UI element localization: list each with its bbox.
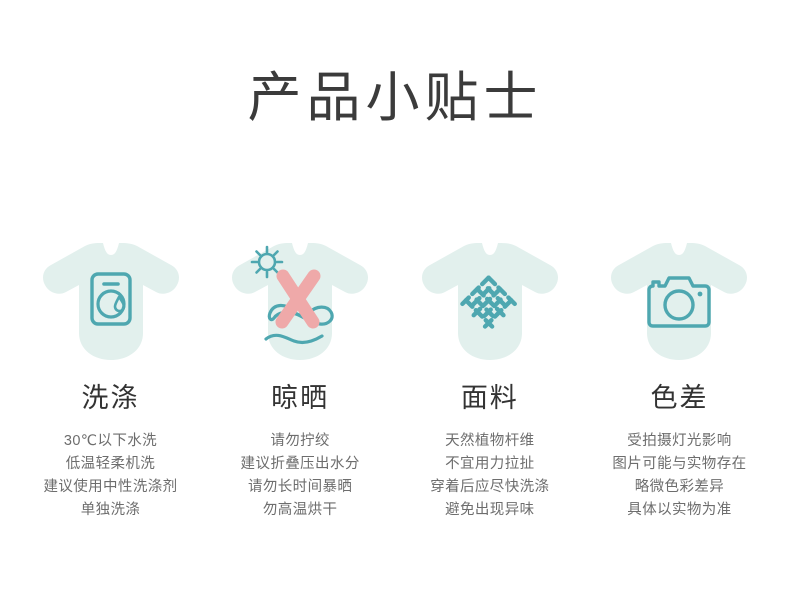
tip-line: 请勿拧绞 bbox=[270, 430, 330, 453]
tip-line: 30℃以下水洗 bbox=[64, 430, 157, 453]
tip-lines: 受拍摄灯光影响 图片可能与实物存在 略微色彩差异 具体以实物为准 bbox=[612, 430, 746, 522]
tip-card-color-difference: 色差 受拍摄灯光影响 图片可能与实物存在 略微色彩差异 具体以实物为准 bbox=[585, 238, 774, 522]
tip-line: 天然植物杆维 bbox=[445, 430, 534, 453]
tip-heading: 洗涤 bbox=[82, 382, 140, 414]
page-title: 产品小贴士 bbox=[0, 66, 790, 130]
tip-line: 请勿长时间暴晒 bbox=[248, 476, 352, 499]
tip-line: 避免出现异味 bbox=[445, 499, 534, 522]
tip-line: 图片可能与实物存在 bbox=[612, 453, 746, 476]
tip-line: 不宜用力拉扯 bbox=[445, 453, 534, 476]
no-sun-dry-wring-icon bbox=[230, 238, 370, 364]
tip-line: 建议使用中性洗涤剂 bbox=[43, 476, 177, 499]
tip-line: 低温轻柔机洗 bbox=[66, 453, 155, 476]
tip-heading: 面料 bbox=[461, 382, 519, 414]
tips-row: 洗涤 30℃以下水洗 低温轻柔机洗 建议使用中性洗涤剂 单独洗涤 bbox=[0, 238, 790, 522]
tip-lines: 天然植物杆维 不宜用力拉扯 穿着后应尽快洗涤 避免出现异味 bbox=[430, 430, 549, 522]
tip-line: 穿着后应尽快洗涤 bbox=[430, 476, 549, 499]
tip-heading: 色差 bbox=[650, 382, 708, 414]
tip-line: 单独洗涤 bbox=[81, 499, 141, 522]
tip-line: 具体以实物为准 bbox=[627, 499, 731, 522]
tip-lines: 30℃以下水洗 低温轻柔机洗 建议使用中性洗涤剂 单独洗涤 bbox=[43, 430, 177, 522]
tip-line: 建议折叠压出水分 bbox=[241, 453, 360, 476]
tip-line: 略微色彩差异 bbox=[635, 476, 724, 499]
woven-fabric-icon bbox=[420, 238, 560, 364]
tip-card-fabric: 面料 天然植物杆维 不宜用力拉扯 穿着后应尽快洗涤 避免出现异味 bbox=[395, 238, 584, 522]
camera-icon bbox=[609, 238, 749, 364]
product-tips-page: 产品小贴士 洗涤 30℃以下水洗 低温轻柔机洗 建议使用中性洗涤剂 单独洗涤 bbox=[0, 0, 790, 592]
tip-heading: 晾晒 bbox=[271, 382, 329, 414]
tip-card-washing: 洗涤 30℃以下水洗 低温轻柔机洗 建议使用中性洗涤剂 单独洗涤 bbox=[16, 238, 205, 522]
washing-machine-icon bbox=[41, 238, 181, 364]
tip-lines: 请勿拧绞 建议折叠压出水分 请勿长时间暴晒 勿高温烘干 bbox=[241, 430, 360, 522]
tip-line: 受拍摄灯光影响 bbox=[627, 430, 731, 453]
tip-card-drying: 晾晒 请勿拧绞 建议折叠压出水分 请勿长时间暴晒 勿高温烘干 bbox=[206, 238, 395, 522]
tip-line: 勿高温烘干 bbox=[263, 499, 338, 522]
